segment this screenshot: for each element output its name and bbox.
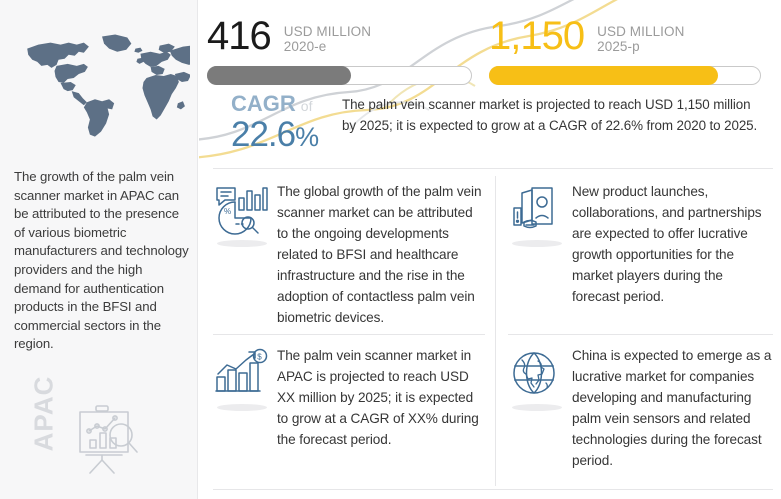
stat-2020-year: 2020-e [284,39,371,54]
stat-2025-bar-track [489,66,761,85]
stat-2025-bar-fill [489,66,719,85]
insight-card-product-launches-text: New product launches, collaborations, an… [572,180,774,307]
stat-2020-meta: USD MILLION 2020-e [284,24,371,56]
insight-card-china: China is expected to emerge as a lucrati… [508,344,774,471]
divider-left-column [213,334,485,335]
insight-card-global-growth: % The global growth of the palm vein sca… [213,180,485,328]
growth-bar-chart-dollar-icon: $ [213,348,277,400]
cagr-of: of [301,98,313,114]
insight-card-china-text: China is expected to emerge as a lucrati… [572,344,774,471]
icon-shadow [512,240,562,247]
stat-2020: 416 USD MILLION 2020-e [207,0,479,85]
globe-icon [508,348,572,400]
stat-2025-year: 2025-p [597,39,684,54]
insight-card-apac-projection: $ The palm vein scanner market in APAC i… [213,344,485,450]
cagr-value: 22.6 [231,115,295,154]
stat-2020-bar-track [207,66,472,85]
stat-2020-unit: USD MILLION [284,24,371,39]
stat-2025: 1,150 USD MILLION 2025-p [489,0,773,85]
icon-shadow [512,404,562,411]
svg-text:%: % [224,207,231,216]
cagr-label: CAGR [231,91,296,116]
cagr-percent-symbol: % [295,122,318,152]
stats-banner: 416 USD MILLION 2020-e 1,150 USD MILLION… [199,0,781,168]
sidebar: The growth of the palm vein scanner mark… [0,0,198,499]
insight-card-global-growth-text: The global growth of the palm vein scann… [277,180,485,328]
divider-columns [495,176,496,486]
stat-2020-bar-fill [207,66,352,85]
icon-shadow [217,240,267,247]
presentation-chart-magnifier-icon [58,400,150,478]
divider-banner-bottom [213,168,773,169]
cagr-area: CAGRof 22.6% The palm vein scanner marke… [207,92,773,156]
region-label-apac: APAC [29,364,60,464]
stat-2025-unit: USD MILLION [597,24,684,39]
divider-right-column [508,334,773,335]
insight-card-apac-projection-text: The palm vein scanner market in APAC is … [277,344,485,450]
stat-2025-meta: USD MILLION 2025-p [597,24,684,56]
world-map-icon [4,8,194,148]
banner-paragraph: The palm vein scanner market is projecte… [342,95,762,136]
svg-text:$: $ [257,352,262,361]
icon-shadow [217,404,267,411]
divider-page-bottom [213,489,773,490]
insight-card-product-launches: New product launches, collaborations, an… [508,180,774,307]
product-launch-hand-icon [508,184,572,236]
pie-bar-chart-magnifier-icon: % [213,184,277,236]
stat-2025-value: 1,150 [489,16,584,56]
sidebar-description: The growth of the palm vein scanner mark… [14,168,189,354]
infographic-page: The growth of the palm vein scanner mark… [0,0,781,499]
stat-2020-value: 416 [207,16,271,56]
